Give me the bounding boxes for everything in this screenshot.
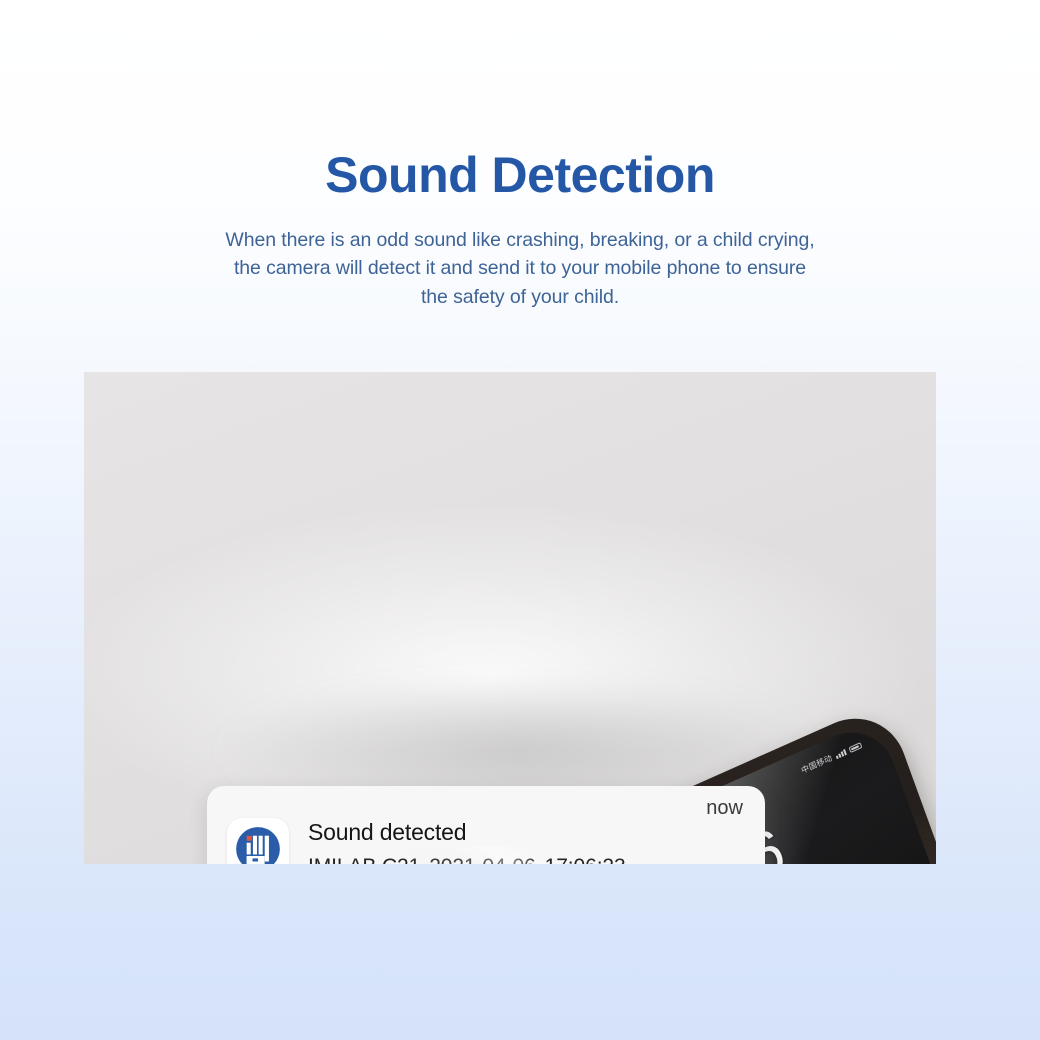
notification-date: 2021-04-06 — [429, 855, 535, 864]
notification-title: Sound detected — [308, 819, 696, 847]
signal-bars-icon — [835, 749, 847, 759]
subtitle-line-3: the safety of your child. — [0, 283, 1040, 311]
subtitle-line-1: When there is an odd sound like crashing… — [0, 226, 1040, 254]
page-title: Sound Detection — [0, 148, 1040, 203]
header: Sound Detection When there is an odd sou… — [0, 0, 1040, 311]
carrier-label: 中国移动 — [800, 752, 834, 776]
status-bar: 中国移动 — [800, 739, 863, 776]
product-photo-panel: 中国移动 5:06 4月6日 星期二 农历二月廿五 — [84, 372, 936, 864]
notification-time-value: 17:06:23 — [545, 855, 626, 864]
notification-card[interactable]: Sound detected IMILAB C212021-04-0617:06… — [207, 786, 765, 864]
subtitle-line-2: the camera will detect it and send it to… — [0, 254, 1040, 282]
notification-text: Sound detected IMILAB C212021-04-0617:06… — [308, 819, 696, 864]
notification-timestamp: now — [706, 797, 743, 820]
product-feature-page: Sound Detection When there is an odd sou… — [0, 0, 1040, 1040]
battery-icon — [848, 742, 862, 753]
notification-device: IMILAB C21 — [308, 855, 420, 864]
imilab-app-icon — [227, 818, 289, 864]
notification-body: IMILAB C212021-04-0617:06:23 — [308, 854, 696, 864]
page-subtitle: When there is an odd sound like crashing… — [0, 226, 1040, 311]
